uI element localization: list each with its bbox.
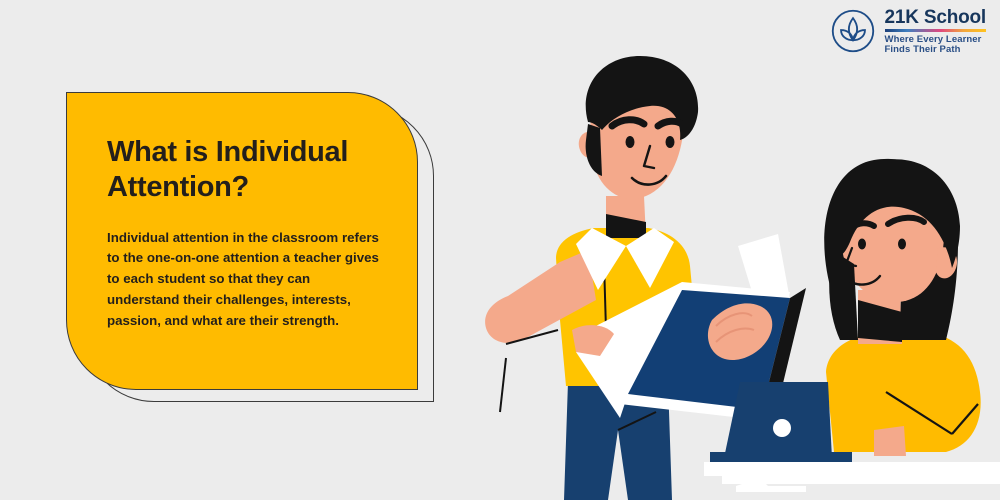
laptop-logo-icon [773,419,791,437]
poster-canvas: 21K School Where Every Learner Finds The… [0,0,1000,500]
seated-student-with-laptop [824,159,980,456]
student-hand [874,426,906,456]
info-card: What is Individual Attention? Individual… [66,92,418,390]
teacher-eye-left [626,136,635,148]
card-heading: What is Individual Attention? [107,135,383,206]
teacher-sideburn [586,124,602,176]
student-eye-left [858,239,866,250]
student-eye-right [898,239,906,250]
card-body-text: Individual attention in the classroom re… [107,228,383,332]
teacher-eye-right [666,136,675,148]
teacher-left-arm-line [500,358,506,412]
teacher-and-student-illustration [460,0,1000,500]
desk-surface-left [704,462,764,476]
